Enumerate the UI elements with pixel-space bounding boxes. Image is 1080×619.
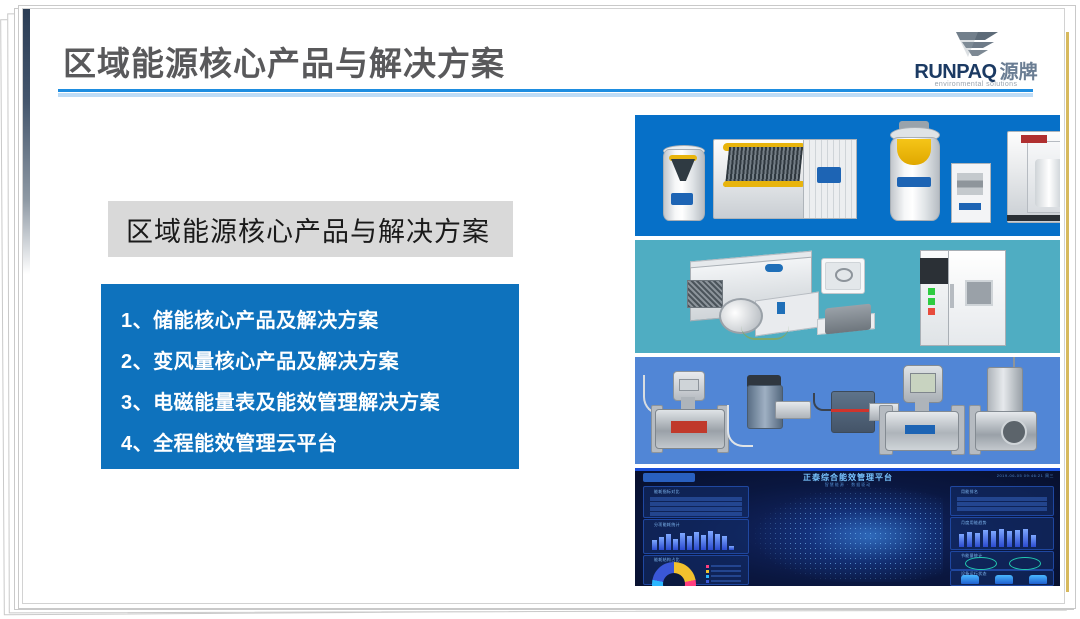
dashboard-topbar <box>635 468 1060 471</box>
container-logo-mark <box>1021 135 1047 143</box>
module-brand-label <box>817 167 841 183</box>
ahu-filter-grille <box>687 280 723 308</box>
device-status-icon <box>995 575 1013 584</box>
meter-neck <box>681 397 695 409</box>
dashboard-card[interactable]: 分项能耗统计 <box>643 519 749 554</box>
meter-flow-arrow-label <box>671 421 707 433</box>
slide-stage: 区域能源核心产品与解决方案 RUNPAQ源牌 environmental sol… <box>0 0 1080 619</box>
meter-brand-label <box>905 425 935 434</box>
card-title: 月度用能趋势 <box>961 520 987 526</box>
logo-wordmark-en: RUNPAQ <box>914 61 996 83</box>
legend-swatch <box>706 575 709 578</box>
meter-lcd-display <box>910 373 936 393</box>
meter-pipe-section <box>775 401 811 419</box>
cabinet-led-green <box>928 298 935 305</box>
meter-display <box>679 379 699 391</box>
page-title: 区域能源核心产品与解决方案 <box>63 37 505 85</box>
heading-box-text: 区域能源核心产品与解决方案 <box>126 210 490 249</box>
card-title: 分项能耗统计 <box>654 522 680 528</box>
runpaq-logo: RUNPAQ源牌 environmental solutions <box>906 31 1046 97</box>
thermostat-dial-icon <box>835 268 853 282</box>
agenda-list-box: 1、储能核心产品及解决方案 2、变风量核心产品及解决方案 3、电磁能量表及能效管… <box>101 284 519 469</box>
cabinet-led-red <box>928 308 935 315</box>
ahu-port-cap <box>777 302 785 314</box>
list-item: 1、储能核心产品及解决方案 <box>121 298 519 339</box>
tank-brand-label <box>897 177 931 187</box>
module-yellow-rail <box>723 181 806 187</box>
device-status-icon <box>1029 575 1047 584</box>
meter-red-stripe <box>831 409 873 412</box>
gauge-indicator <box>1009 557 1041 570</box>
meter-bore <box>1001 419 1027 445</box>
cabinet-window <box>965 280 993 306</box>
card-title: 用能排名 <box>961 489 978 495</box>
dashboard-card[interactable]: 月度用能趋势 <box>950 517 1054 550</box>
cabinet-handle <box>950 284 954 308</box>
bar-chart <box>652 530 742 550</box>
presentation-slide: 区域能源核心产品与解决方案 RUNPAQ源牌 environmental sol… <box>22 8 1065 604</box>
bar-chart <box>959 528 1047 547</box>
energy-dashboard: 正泰综合能效管理平台 智慧能源 · 数据驱动 2019-06-05 09:46:… <box>635 468 1060 586</box>
cabinet-brand-plate <box>920 258 948 284</box>
ahu-flex-cable <box>741 326 789 340</box>
title-rule-secondary <box>58 93 1033 97</box>
image-panel-cloud-platform: 正泰综合能效管理平台 智慧能源 · 数据驱动 2019-06-05 09:46:… <box>635 468 1060 586</box>
dashboard-card[interactable]: 能耗结构占比 <box>643 555 749 585</box>
list-item: 4、全程能效管理云平台 <box>121 421 519 462</box>
list-item: 3、电磁能量表及能效管理解决方案 <box>121 380 519 421</box>
dashboard-card[interactable]: 节能量统计 <box>950 551 1054 570</box>
donut-chart <box>652 562 696 586</box>
tank-brand-label <box>671 193 693 205</box>
gauge-indicator <box>965 557 997 570</box>
meter-terminal-box <box>987 367 1023 413</box>
device-status-icon <box>961 575 979 584</box>
list-item: 2、变风量核心产品及解决方案 <box>121 339 519 380</box>
dashboard-card[interactable]: 用能排名 <box>950 486 1054 516</box>
dashboard-logo <box>643 473 695 482</box>
vav-terminal-controller <box>825 304 871 335</box>
meter-neck <box>915 399 929 411</box>
legend-swatch <box>706 570 709 573</box>
logo-tagline: environmental solutions <box>906 81 1046 88</box>
dashboard-card[interactable]: 设备运行状态 <box>950 570 1054 586</box>
title-rule-primary <box>58 89 1033 92</box>
container-base <box>1007 215 1060 221</box>
cabinet-led-green <box>928 288 935 295</box>
cabinet-brand-label <box>959 203 981 210</box>
image-panel-vav <box>635 240 1060 353</box>
container-vessel <box>1035 159 1060 207</box>
heading-box: 区域能源核心产品与解决方案 <box>108 201 513 257</box>
shield-swoosh-icon <box>954 31 1000 57</box>
left-accent-strip <box>23 9 30 274</box>
logo-wordmark-cn: 源牌 <box>1000 62 1038 83</box>
card-title: 能耗指标对比 <box>654 489 680 495</box>
paper-edge-accent <box>1066 32 1069 592</box>
cabinet-display <box>957 173 983 195</box>
dashboard-timestamp: 2019-06-05 09:46:21 周三 <box>997 473 1054 479</box>
ahu-inlet-cap <box>765 264 783 272</box>
legend-swatch <box>706 565 709 568</box>
china-map-dots <box>753 486 943 582</box>
image-panel-meters <box>635 357 1060 464</box>
legend-swatch <box>706 580 709 583</box>
image-panel-energy-storage <box>635 115 1060 236</box>
dashboard-card[interactable]: 能耗指标对比 <box>643 486 749 518</box>
logo-wordmark: RUNPAQ源牌 <box>906 57 1046 84</box>
